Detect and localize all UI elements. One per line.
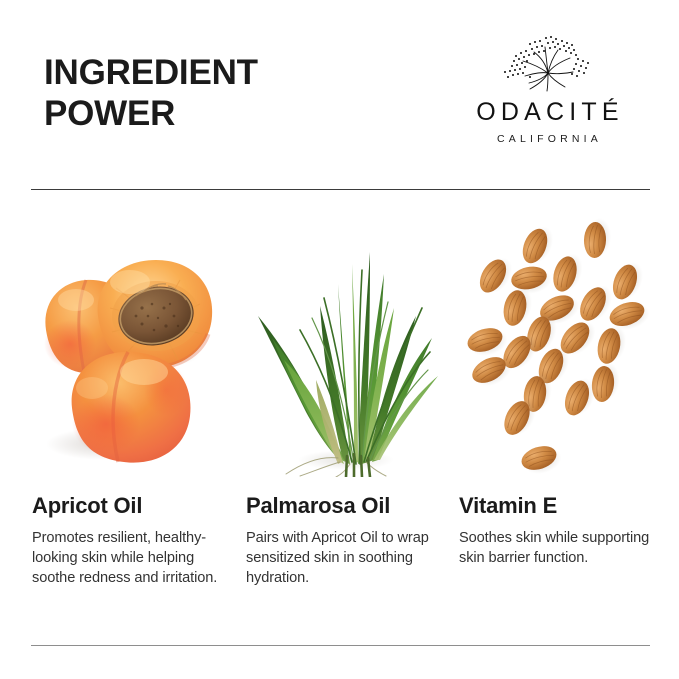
ingredient-title: Apricot Oil <box>32 493 232 519</box>
divider-top <box>31 189 650 190</box>
apricot-half-with-pit <box>98 260 213 368</box>
ingredient-title: Vitamin E <box>459 493 659 519</box>
ingredient-title: Palmarosa Oil <box>246 493 446 519</box>
ingredient-columns: Apricot Oil Promotes resilient, healthy-… <box>0 212 679 632</box>
grass-blades <box>258 252 438 477</box>
ingredient-power-card: INGREDIENT POWER <box>0 0 679 679</box>
apricot-whole-front <box>72 352 191 463</box>
apricot-fruit-photo <box>32 212 232 477</box>
almond-cluster <box>464 218 653 477</box>
ingredient-description: Pairs with Apricot Oil to wrap sensitize… <box>246 528 446 588</box>
ingredient-card-apricot-oil: Apricot Oil Promotes resilient, healthy-… <box>32 212 232 588</box>
header: INGREDIENT POWER <box>0 0 679 190</box>
almonds-photo <box>459 212 659 477</box>
brand-tagline: CALIFORNIA <box>440 134 655 145</box>
ingredient-description: Soothes skin while supporting skin barri… <box>459 528 659 568</box>
divider-bottom <box>31 645 650 646</box>
brand-name: ODACITÉ <box>440 100 655 125</box>
ingredient-card-palmarosa-oil: Palmarosa Oil Pairs with Apricot Oil to … <box>246 212 446 588</box>
ingredient-description: Promotes resilient, healthy-looking skin… <box>32 528 232 588</box>
umbel-flower-icon <box>496 32 600 94</box>
palmarosa-grass-photo <box>246 212 446 477</box>
brand-logo: ODACITÉ CALIFORNIA <box>440 32 655 145</box>
page-title: INGREDIENT POWER <box>44 52 258 134</box>
ingredient-card-vitamin-e: Vitamin E Soothes skin while supporting … <box>459 212 659 568</box>
